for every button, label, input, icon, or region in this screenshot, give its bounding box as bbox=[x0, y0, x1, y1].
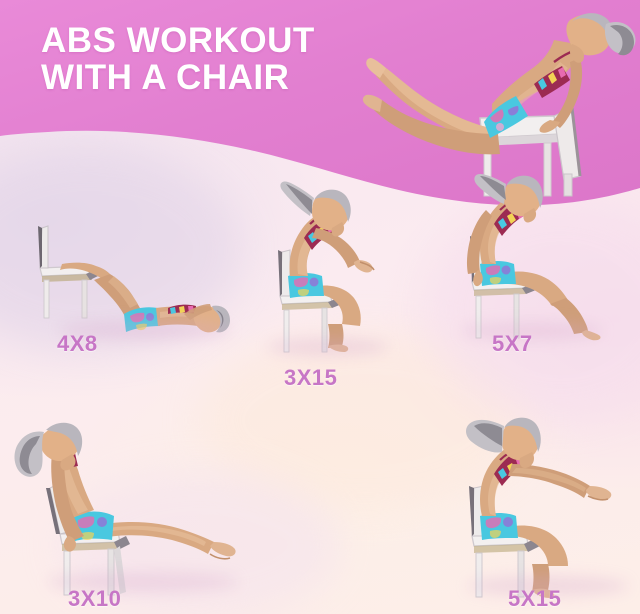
rep-label-reclined-leg-extension: 3X10 bbox=[68, 586, 121, 612]
legs-top-right bbox=[363, 58, 500, 154]
hips-mid-right bbox=[480, 261, 516, 286]
arms-mid-center bbox=[312, 228, 374, 273]
poster-title: ABS WORKOUT WITH A CHAIR bbox=[41, 22, 315, 96]
figure-seated-arms-straight-out bbox=[442, 408, 640, 600]
workout-poster: ABS WORKOUT WITH A CHAIR bbox=[0, 0, 640, 614]
figure-seated-arms-forward bbox=[254, 176, 404, 354]
figure-leg-raise-seated-lean-back bbox=[358, 0, 640, 196]
hips-bot-right bbox=[480, 513, 518, 540]
figure-seated-single-leg-extension bbox=[452, 172, 612, 344]
rep-label-seated-leg-extension: 5X7 bbox=[492, 331, 533, 357]
rep-label-seated-arms-straight: 5X15 bbox=[508, 586, 561, 612]
figure-reclined-double-leg-extension bbox=[8, 418, 246, 598]
hips-mid-center bbox=[288, 273, 324, 298]
arms-bot-right bbox=[508, 464, 611, 500]
rep-label-floor-crunch: 4X8 bbox=[57, 331, 98, 357]
shadow-mid-center bbox=[268, 338, 388, 356]
rep-label-seated-arms-forward: 3X15 bbox=[284, 365, 337, 391]
head-top-right bbox=[566, 13, 635, 63]
